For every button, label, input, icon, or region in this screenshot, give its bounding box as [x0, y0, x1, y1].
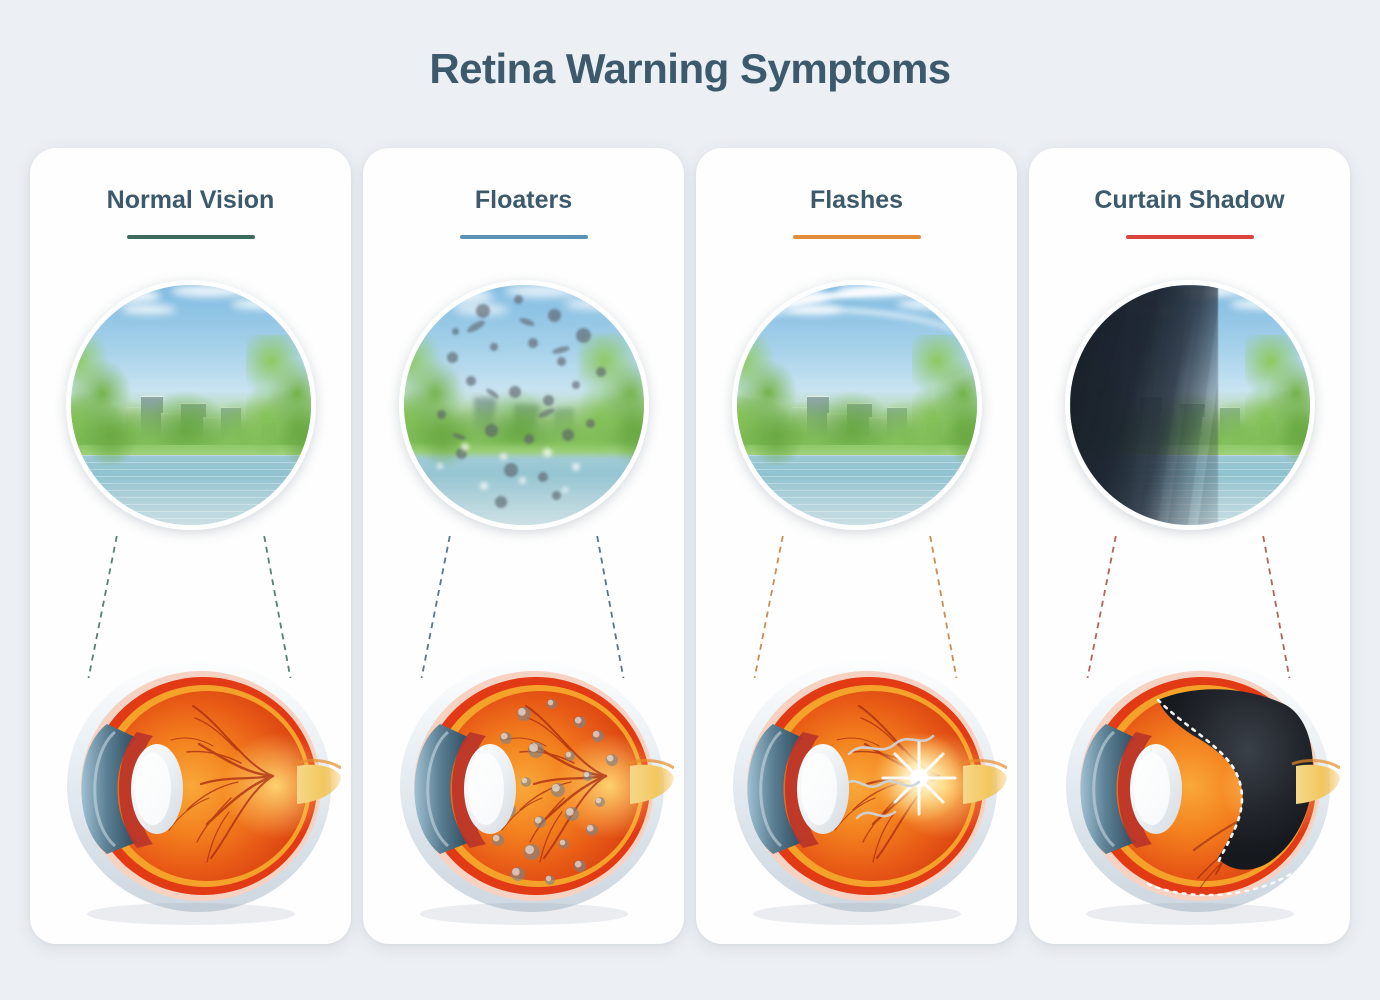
page-title: Retina Warning Symptoms — [0, 0, 1380, 90]
foreground-tree-right — [246, 335, 316, 465]
eye-cross-section-detachment[interactable] — [1040, 626, 1340, 926]
title-accent-rule — [1126, 235, 1254, 239]
cloud — [1230, 299, 1295, 310]
lake — [66, 455, 316, 530]
floater-highlight — [480, 482, 488, 490]
cloud — [171, 285, 246, 297]
curtain-shadow-vision-circle[interactable] — [1065, 280, 1315, 530]
symptom-card-flashes[interactable]: Flashes — [696, 148, 1017, 944]
eye-cross-section-svg — [41, 626, 341, 926]
curtain-shadow-overlay — [1070, 285, 1219, 525]
vision-circle — [399, 280, 649, 530]
floater-highlight — [461, 443, 469, 451]
normal-vision-circle[interactable] — [66, 280, 316, 530]
title-accent-rule — [460, 235, 588, 239]
symptom-card-curtain-shadow[interactable]: Curtain Shadow — [1029, 148, 1350, 944]
lake — [399, 455, 649, 530]
park-scene — [66, 280, 316, 530]
floater-spot — [485, 424, 498, 437]
eye-cross-section-svg — [374, 626, 674, 926]
floater-spot — [524, 434, 534, 444]
cloud — [231, 299, 296, 310]
eye-cross-section-svg — [707, 626, 1007, 926]
vision-circle — [1065, 280, 1315, 530]
cloud — [564, 299, 629, 310]
cloud — [594, 288, 644, 297]
vision-circle — [66, 280, 316, 530]
eye-cross-section-floaters[interactable] — [374, 626, 674, 926]
eye-cross-section-normal[interactable] — [41, 626, 341, 926]
floater-spot — [528, 338, 538, 348]
floater-spot — [490, 343, 498, 351]
symptom-card-normal-vision[interactable]: Normal Vision — [30, 148, 351, 944]
floater-spot — [437, 410, 446, 419]
eye-cross-section-flashes[interactable] — [707, 626, 1007, 926]
cloud — [261, 288, 311, 297]
floater-spot — [548, 309, 561, 322]
vision-circle — [732, 280, 982, 530]
foreground-tree-right — [1245, 335, 1315, 465]
symptom-card-floaters[interactable]: Floaters — [363, 148, 684, 944]
floaters-vision-circle[interactable] — [399, 280, 649, 530]
cloud — [91, 289, 161, 303]
floater-spot — [514, 295, 523, 304]
card-title: Flashes — [696, 148, 1017, 213]
floater-spot — [572, 381, 580, 389]
cloud — [424, 289, 494, 303]
flashes-vision-circle[interactable] — [732, 280, 982, 530]
card-title: Curtain Shadow — [1029, 148, 1350, 213]
floater-spot — [557, 357, 566, 366]
floater-highlight — [500, 453, 507, 460]
symptom-card-grid: Normal Vision — [30, 148, 1350, 944]
cloud — [121, 305, 176, 314]
floater-highlight — [437, 463, 443, 469]
eye-cross-section-svg — [1040, 626, 1340, 926]
card-title: Normal Vision — [30, 148, 351, 213]
card-title: Floaters — [363, 148, 684, 213]
title-accent-rule — [127, 235, 255, 239]
floater-spot — [596, 367, 606, 377]
foreground-tree-right — [579, 335, 649, 465]
foreground-tree-left — [66, 335, 136, 465]
title-accent-rule — [793, 235, 921, 239]
cloud — [1260, 288, 1310, 297]
foreground-tree-left — [399, 335, 469, 465]
floater-spot — [504, 463, 518, 477]
lake — [732, 455, 982, 530]
floater-spot — [576, 328, 591, 343]
floater-spot — [509, 386, 521, 398]
floater-highlight — [572, 463, 580, 471]
